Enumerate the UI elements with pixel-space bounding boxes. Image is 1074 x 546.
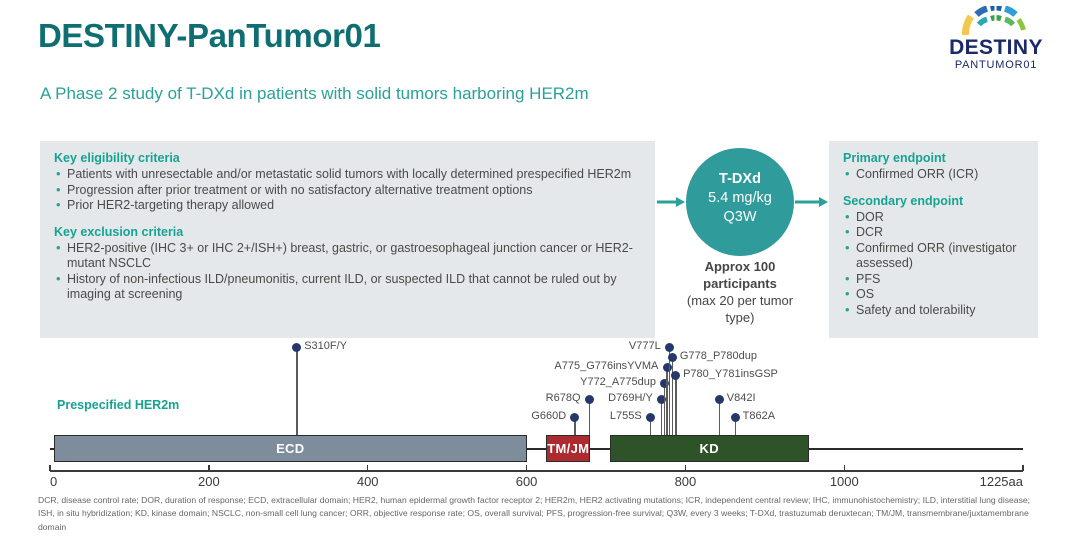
- mutation-label: V777L: [629, 341, 661, 352]
- mutation-stem: [672, 357, 674, 435]
- primary-endpoint-list: Confirmed ORR (ICR): [843, 167, 1026, 183]
- domain-label: ECD: [276, 441, 304, 456]
- logo-wordmark: DESTINY: [936, 37, 1056, 58]
- list-item: Patients with unresectable and/or metast…: [54, 167, 643, 183]
- mutation-label: T862A: [743, 411, 775, 422]
- mutation-label: S310F/Y: [304, 341, 347, 352]
- axis-tick-label: 400: [357, 474, 379, 489]
- mutation-label: G660D: [531, 411, 566, 422]
- exclusion-heading: Key exclusion criteria: [54, 225, 643, 239]
- axis-tick: [1022, 465, 1024, 471]
- mutation-dot: [585, 395, 594, 404]
- mutation-stem: [661, 399, 663, 435]
- domain-label: TM/JM: [547, 441, 589, 456]
- list-item: Progression after prior treatment or wit…: [54, 183, 643, 199]
- axis-tick-label: 600: [516, 474, 538, 489]
- mutation-dot: [668, 353, 677, 362]
- mutation-stem: [296, 347, 298, 435]
- mutation-label: D769H/Y: [608, 393, 653, 404]
- list-item: DOR: [843, 210, 1026, 226]
- axis-tick-label: 0: [50, 474, 57, 489]
- axis-tick-label: 200: [198, 474, 220, 489]
- list-item: Confirmed ORR (investigator assessed): [843, 241, 1026, 272]
- mutation-dot: [731, 413, 740, 422]
- secondary-endpoint-list: DOR DCR Confirmed ORR (investigator asse…: [843, 210, 1026, 319]
- participants-caption: Approx 100 participants (max 20 per tumo…: [672, 258, 808, 326]
- logo-sublabel: PANTUMOR01: [936, 59, 1056, 71]
- key-criteria-panel: Key eligibility criteria Patients with u…: [40, 141, 655, 338]
- eligibility-heading: Key eligibility criteria: [54, 151, 643, 165]
- axis-tick-label: 800: [675, 474, 697, 489]
- axis-tick: [685, 465, 687, 471]
- destiny-logo: DESTINY PANTUMOR01: [936, 6, 1056, 80]
- flow-arrow-right-icon: [795, 196, 828, 208]
- mutation-label: R678Q: [546, 393, 581, 404]
- axis-tick: [49, 465, 51, 471]
- mutation-stem: [664, 383, 666, 435]
- drug-dose: 5.4 mg/kg: [686, 189, 794, 208]
- mutation-stem: [675, 375, 677, 435]
- mutation-dot: [663, 363, 672, 372]
- list-item: Confirmed ORR (ICR): [843, 167, 1026, 183]
- flow-arrow-left-icon: [657, 196, 685, 208]
- page-subtitle: A Phase 2 study of T-DXd in patients wit…: [40, 84, 589, 104]
- endpoints-panel: Primary endpoint Confirmed ORR (ICR) Sec…: [829, 141, 1038, 338]
- mutation-dot: [292, 343, 301, 352]
- mutation-label: A775_G776insYVMA: [554, 361, 658, 372]
- mutation-label: Y772_A775dup: [580, 377, 656, 388]
- axis-tick-label: 1225aa: [980, 474, 1023, 489]
- treatment-circle: T-DXd 5.4 mg/kg Q3W: [686, 148, 794, 256]
- mutation-label: V842I: [727, 393, 756, 404]
- mutation-label: L755S: [610, 411, 642, 422]
- mutation-dot: [671, 371, 680, 380]
- list-item: OS: [843, 287, 1026, 303]
- mutation-label: G778_P780dup: [680, 351, 757, 362]
- mutation-dot: [646, 413, 655, 422]
- mutation-dot: [715, 395, 724, 404]
- eligibility-list: Patients with unresectable and/or metast…: [54, 167, 643, 214]
- list-item: History of non-infectious ILD/pneumoniti…: [54, 272, 643, 303]
- axis-tick: [367, 465, 369, 471]
- participants-count: Approx 100 participants: [703, 259, 777, 291]
- mutation-stem: [719, 399, 721, 435]
- protein-domain-ecd: ECD: [54, 435, 527, 462]
- mutation-dot: [665, 343, 674, 352]
- axis-tick: [844, 465, 846, 471]
- list-item: Safety and tolerability: [843, 303, 1026, 319]
- mutation-stem: [589, 399, 591, 435]
- mutation-label: P780_Y781insGSP: [683, 369, 778, 380]
- exclusion-list: HER2-positive (IHC 3+ or IHC 2+/ISH+) br…: [54, 241, 643, 303]
- lollipop-title: Prespecified HER2m: [57, 398, 179, 412]
- logo-arc-icon: [960, 6, 1032, 36]
- list-item: DCR: [843, 225, 1026, 241]
- protein-domain-kd: KD: [610, 435, 809, 462]
- page-title: DESTINY-PanTumor01: [38, 17, 380, 55]
- list-item: HER2-positive (IHC 3+ or IHC 2+/ISH+) br…: [54, 241, 643, 272]
- domain-label: KD: [700, 441, 719, 456]
- axis-tick: [526, 465, 528, 471]
- drug-name: T-DXd: [686, 170, 794, 189]
- mutation-dot: [570, 413, 579, 422]
- abbreviations-footnote: DCR, disease control rate; DOR, duration…: [38, 494, 1038, 534]
- protein-domain-tm-jm: TM/JM: [546, 435, 590, 462]
- axis-tick-label: 1000: [830, 474, 859, 489]
- primary-endpoint-heading: Primary endpoint: [843, 151, 1026, 165]
- drug-schedule: Q3W: [686, 208, 794, 227]
- secondary-endpoint-heading: Secondary endpoint: [843, 194, 1026, 208]
- list-item: PFS: [843, 272, 1026, 288]
- axis-line: [50, 470, 1023, 472]
- participants-note: (max 20 per tumor type): [687, 293, 793, 325]
- mutation-stem: [666, 367, 668, 435]
- axis-tick: [208, 465, 210, 471]
- list-item: Prior HER2-targeting therapy allowed: [54, 198, 643, 214]
